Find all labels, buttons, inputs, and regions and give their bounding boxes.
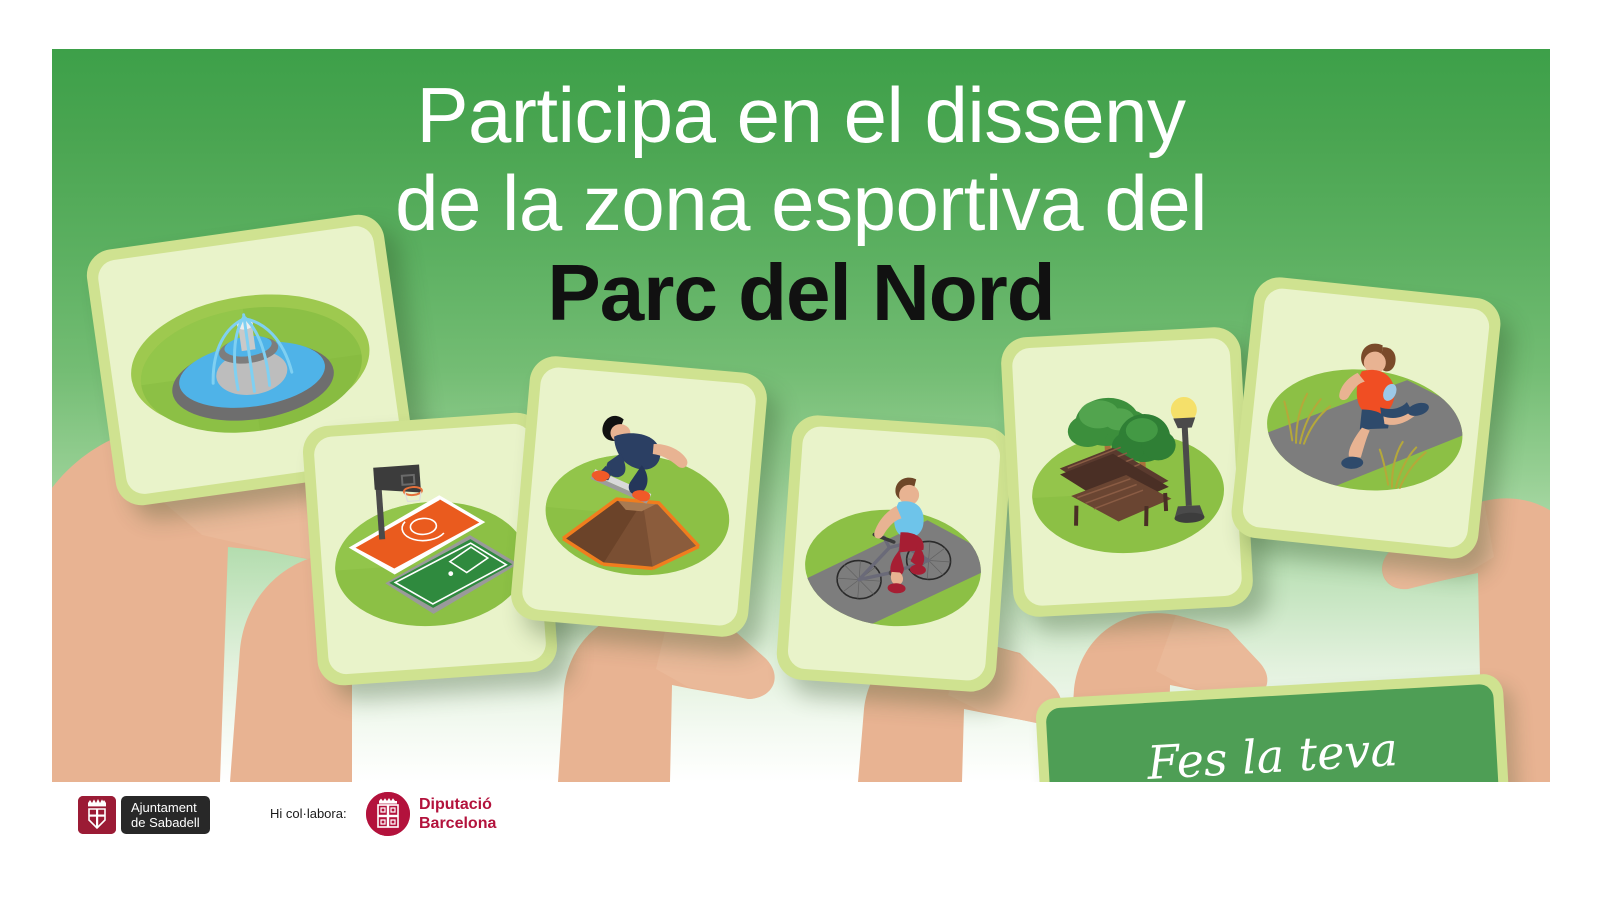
skateboarder-icon <box>521 366 757 627</box>
sabadell-name-block: Ajuntament de Sabadell <box>121 796 210 834</box>
hand-center-1 <box>558 609 775 782</box>
card-face <box>1011 337 1242 606</box>
card-face <box>313 423 547 676</box>
card-running[interactable] <box>1229 275 1503 561</box>
bench-scene <box>1011 337 1242 606</box>
card-cycling[interactable] <box>775 414 1013 694</box>
sabadell-crest-icon <box>78 796 116 834</box>
diputacio-name-line-1: Diputació <box>419 795 496 814</box>
card-face <box>787 425 1001 681</box>
promo-banner: Participa en el disseny de la zona espor… <box>52 49 1550 782</box>
logo-diputacio-barcelona[interactable]: Diputació Barcelona <box>366 792 496 836</box>
skatepark-scene <box>521 366 757 627</box>
runner-icon <box>1241 287 1491 549</box>
cyclist-icon <box>787 425 1001 681</box>
sports-court-icon <box>313 423 547 676</box>
sabadell-name-line-2: de Sabadell <box>131 815 200 830</box>
park-bench-icon <box>1011 337 1242 606</box>
cycling-scene <box>787 425 1001 681</box>
card-bench[interactable] <box>1000 326 1254 618</box>
card-face <box>521 366 757 627</box>
diputacio-crest-icon <box>366 792 410 836</box>
footer-logos: Ajuntament de Sabadell Hi col·labora: <box>0 782 1600 900</box>
sports-court-scene <box>313 423 547 676</box>
card-skatepark[interactable] <box>509 354 769 639</box>
collaborator-label: Hi col·labora: <box>270 806 347 821</box>
running-scene <box>1241 287 1491 549</box>
diputacio-name-block: Diputació Barcelona <box>419 795 496 833</box>
sabadell-name-line-1: Ajuntament <box>131 800 200 815</box>
logo-ajuntament-sabadell[interactable]: Ajuntament de Sabadell <box>78 796 210 834</box>
card-face <box>1241 287 1491 549</box>
diputacio-name-line-2: Barcelona <box>419 814 496 833</box>
